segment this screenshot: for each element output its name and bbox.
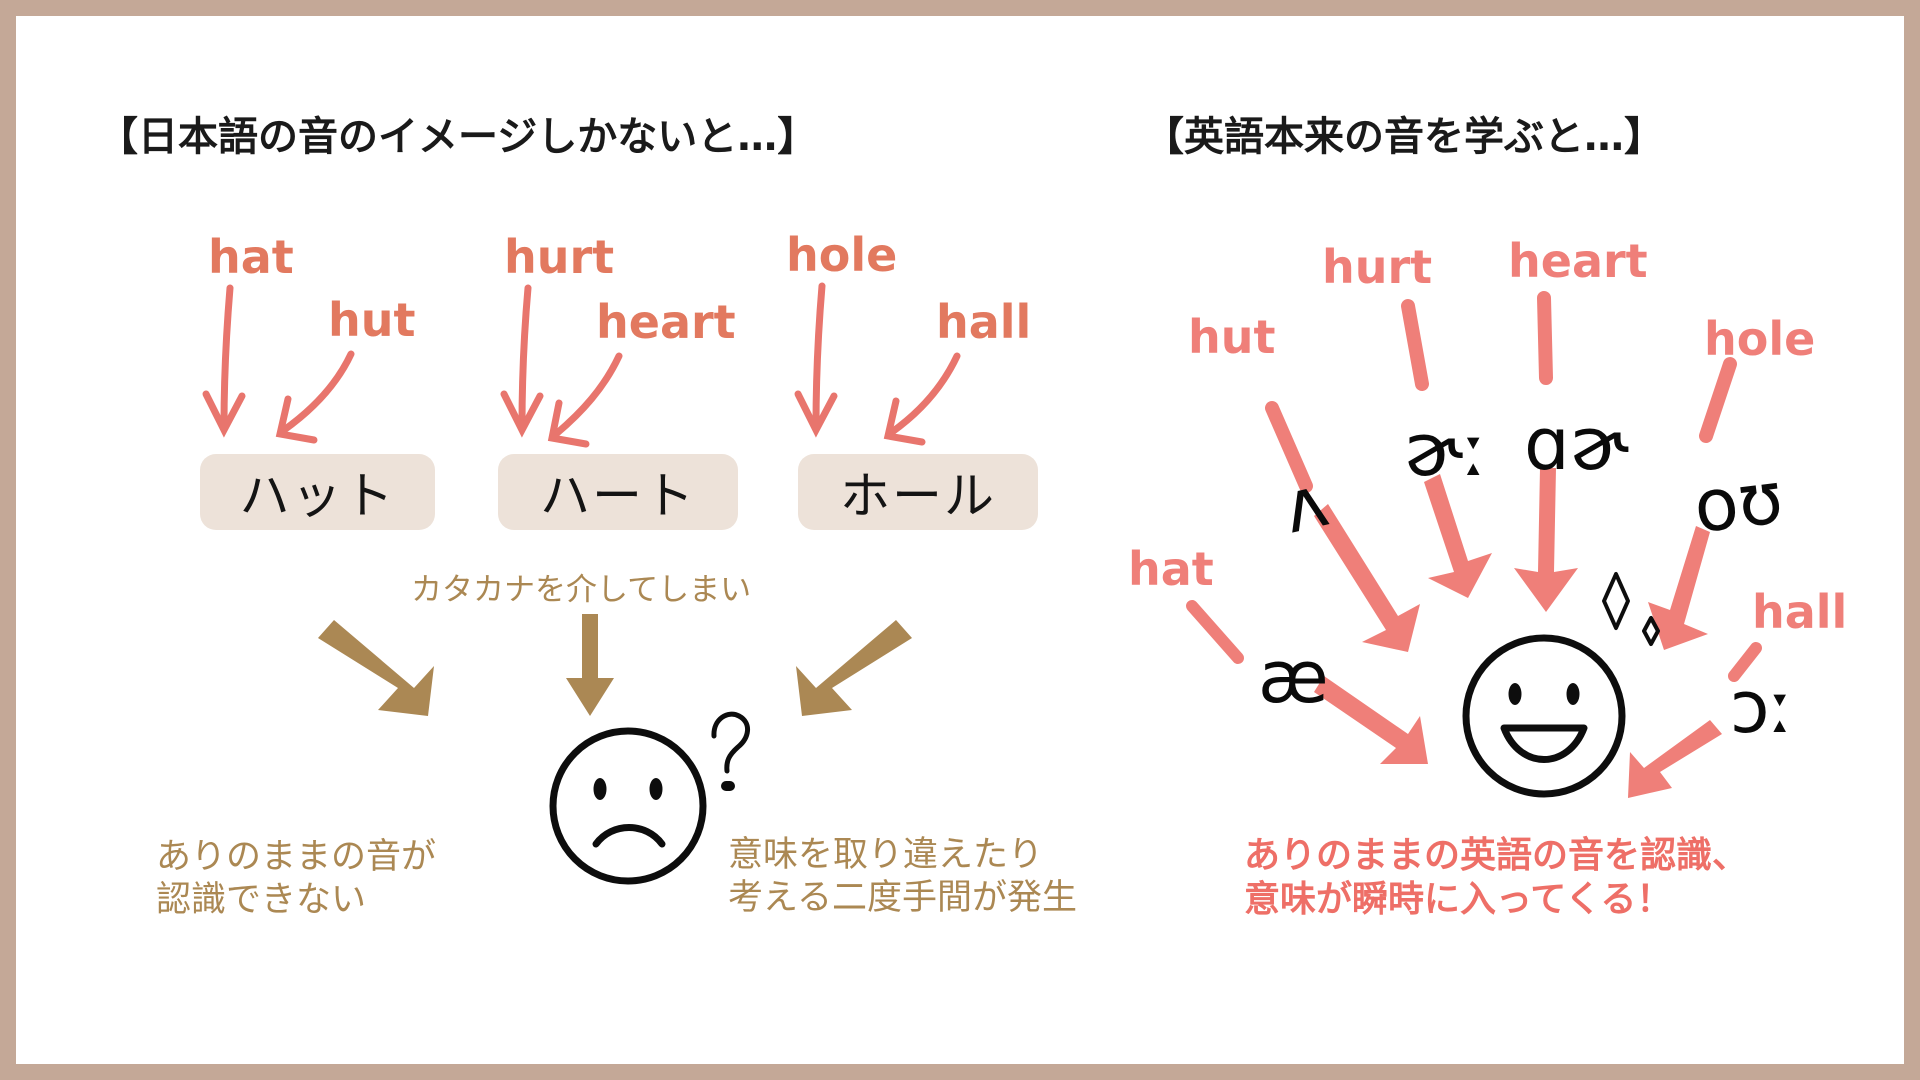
ipa-symbol-hall: ɔː — [1730, 671, 1794, 743]
infographic-frame: 【日本語の音のイメージしかないと…】 【英語本来の音を学ぶと…】 hat hut… — [0, 0, 1920, 1080]
right-word-hall: hall — [1752, 589, 1847, 635]
ipa-symbol-hut: ʌ — [1276, 464, 1334, 544]
ipa-symbol-hurt: ɚː — [1404, 414, 1487, 486]
right-panel-title: 【英語本来の音を学ぶと…】 — [1144, 104, 1664, 162]
annotation-instant-meaning: ありのままの英語の音を認識、 意味が瞬時に入ってくる！ — [1244, 834, 1748, 922]
ipa-symbol-hole: oʊ — [1690, 461, 1787, 543]
annotation-double-effort: 意味を取り違えたり 考える二度手間が発生 — [728, 834, 1077, 919]
right-word-hurt: hurt — [1322, 244, 1432, 290]
katakana-pill-hatto: ハット — [200, 454, 435, 530]
left-word-heart: heart — [596, 299, 736, 345]
left-word-arrows — [206, 286, 957, 444]
right-converging-arrows — [1314, 468, 1722, 798]
right-word-hole: hole — [1704, 316, 1815, 362]
happy-face — [1466, 638, 1622, 794]
right-word-hat: hat — [1128, 546, 1214, 592]
left-word-hut: hut — [328, 297, 416, 343]
left-word-hat: hat — [208, 234, 294, 280]
annotation-cannot-recognize: ありのままの音が 認識できない — [156, 836, 436, 921]
right-word-hut: hut — [1188, 314, 1276, 360]
left-word-hole: hole — [786, 232, 897, 278]
left-panel-title: 【日本語の音のイメージしかないと…】 — [98, 104, 817, 162]
katakana-pill-haato: ハート — [498, 454, 738, 530]
left-word-hall: hall — [936, 299, 1031, 345]
ipa-symbol-heart: ɑɚ — [1524, 408, 1629, 480]
question-mark-icon — [714, 714, 748, 786]
left-tan-arrows — [318, 614, 912, 716]
sparkle-icon — [1604, 574, 1658, 644]
left-word-hurt: hurt — [504, 234, 614, 280]
sad-face — [553, 731, 703, 881]
katakana-pill-hooru: ホール — [798, 454, 1038, 530]
right-word-heart: heart — [1508, 238, 1648, 284]
ipa-symbol-hat: æ — [1258, 641, 1329, 713]
infographic-canvas: 【日本語の音のイメージしかないと…】 【英語本来の音を学ぶと…】 hat hut… — [16, 16, 1904, 1064]
annotation-via-katakana: カタカナを介してしまい — [411, 572, 751, 610]
